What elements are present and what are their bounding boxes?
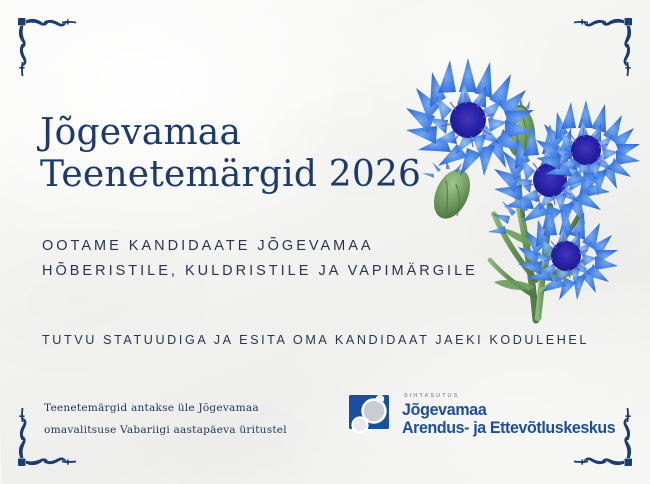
title-line-2: Teenetemärgid 2026 [40, 154, 440, 196]
poster-canvas: Jõgevamaa Teenetemärgid 2026 OOTAME KAND… [0, 0, 650, 484]
logo-mark-icon [348, 392, 394, 438]
footnote-line-1: Teenetemärgid antakse üle Jõgevamaa [44, 398, 324, 420]
logo-line-1: Jõgevamaa [402, 401, 615, 418]
footnote-line-2: omavalitsuse Vabariigi aastapäeva üritus… [44, 420, 324, 442]
logo-wordmark: SIHTASUTUS Jõgevamaa Arendus- ja Ettevõt… [402, 394, 629, 437]
organization-logo: SIHTASUTUS Jõgevamaa Arendus- ja Ettevõt… [348, 392, 629, 438]
logo-line-2: Arendus- ja Ettevõtluskeskus [402, 419, 615, 436]
title-line-1: Jõgevamaa [40, 112, 440, 154]
subtitle-line-2: HÕBERISTILE, KULDRISTILE JA VAPIMÄRGILE [42, 259, 582, 284]
subtitle-line-1: OOTAME KANDIDAATE JÕGEVAMAA [42, 234, 582, 259]
poster-call-to-action: TUTVU STATUUDIGA JA ESITA OMA KANDIDAAT … [42, 333, 632, 347]
logo-kicker: SIHTASUTUS [404, 394, 629, 400]
poster-footnote: Teenetemärgid antakse üle Jõgevamaa omav… [44, 398, 324, 441]
poster-subtitle: OOTAME KANDIDAATE JÕGEVAMAA HÕBERISTILE,… [42, 234, 582, 285]
corner-ornament-top-left-icon [10, 10, 84, 84]
poster-title: Jõgevamaa Teenetemärgid 2026 [40, 112, 440, 196]
